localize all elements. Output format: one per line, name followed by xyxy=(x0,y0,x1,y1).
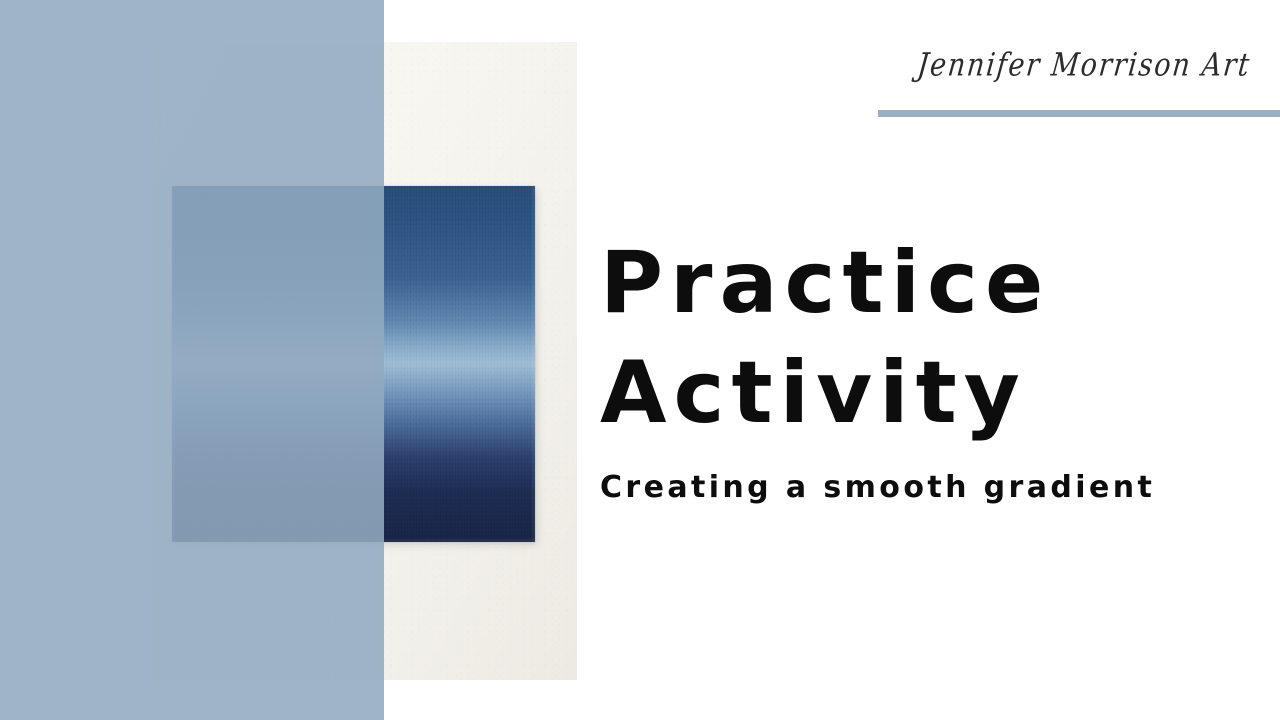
brand-block: Jennifer Morrison Art xyxy=(878,48,1280,84)
page-subtitle: Creating a smooth gradient xyxy=(600,470,1240,505)
slide-canvas: Jennifer Morrison Art Practice Activity … xyxy=(0,0,1280,720)
headline-block: Practice Activity Creating a smooth grad… xyxy=(600,228,1240,505)
blue-accent-panel xyxy=(0,0,384,720)
page-title-line-1: Practice xyxy=(600,228,1240,338)
brand-wordmark: Jennifer Morrison Art xyxy=(876,45,1280,88)
brand-rule-divider xyxy=(878,110,1280,117)
page-title-line-2: Activity xyxy=(600,338,1240,448)
